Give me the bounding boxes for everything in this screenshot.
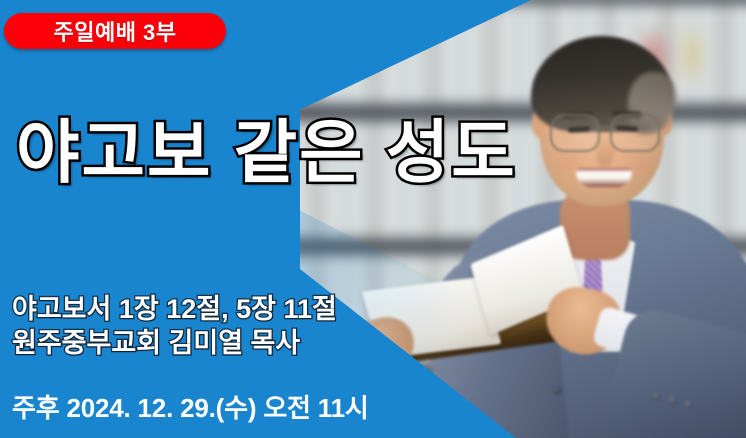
service-datetime: 주후 2024. 12. 29.(수) 오전 11시 (12, 388, 369, 425)
smiling-mouth (576, 168, 632, 187)
sermon-title-card: 주일예배 3부 야고보 같은 성도 야고보서 1장 12절, 5장 11절 원주… (0, 0, 746, 438)
service-badge-label: 주일예배 3부 (53, 15, 176, 47)
scripture-and-speaker-block: 야고보서 1장 12절, 5장 11절 원주중부교회 김미열 목사 (12, 292, 337, 360)
service-badge: 주일예배 3부 (4, 13, 226, 49)
suit-button-1 (652, 392, 661, 401)
suit-button-lapel (553, 386, 562, 395)
suit-button-2 (668, 396, 677, 405)
scripture-reference: 야고보서 1장 12절, 5장 11절 (12, 292, 337, 326)
sermon-title: 야고보 같은 성도 (16, 116, 517, 191)
nose (596, 134, 614, 166)
eyeglass-bridge (596, 126, 612, 128)
eyeglass-lens-right (610, 114, 660, 152)
church-and-pastor: 원주중부교회 김미열 목사 (12, 326, 337, 360)
suit-button-3 (684, 400, 693, 409)
eyeglass-lens-left (550, 114, 600, 152)
